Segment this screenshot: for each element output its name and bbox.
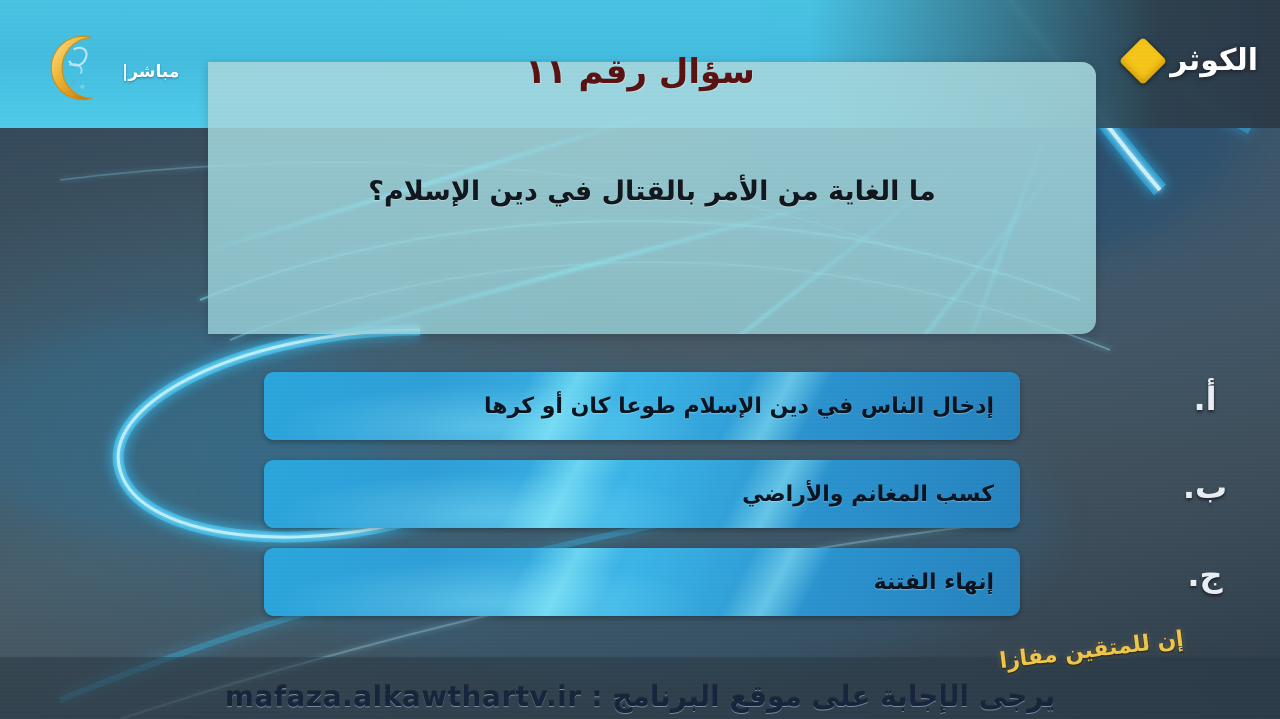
answer-row[interactable]: إنهاء الفتنة ج.	[0, 548, 1280, 636]
answer-option-b[interactable]: كسب المغانم والأراضي	[264, 460, 1020, 528]
answer-letter-a: أ.	[1170, 380, 1240, 418]
broadcast-stage: مباشر| الكوثر سؤال رقم ١١ ما الغاية من ا…	[0, 0, 1280, 719]
answer-row[interactable]: إدخال الناس في دين الإسلام طوعا كان أو ك…	[0, 372, 1280, 460]
answer-text: إدخال الناس في دين الإسلام طوعا كان أو ك…	[484, 394, 994, 419]
answer-text: كسب المغانم والأراضي	[742, 482, 994, 507]
answer-letter-b: ب.	[1170, 468, 1240, 506]
question-header: سؤال رقم ١١	[0, 52, 1280, 92]
answer-option-c[interactable]: إنهاء الفتنة	[264, 548, 1020, 616]
footer-url: mafaza.alkawthartv.ir	[225, 680, 582, 713]
answer-letter-c: ج.	[1170, 556, 1240, 594]
footer-prompt: يرجى الإجابة على موقع البرنامج : mafaza.…	[0, 680, 1280, 713]
question-text: ما الغاية من الأمر بالقتال في دين الإسلا…	[208, 176, 1096, 207]
answer-text: إنهاء الفتنة	[874, 570, 994, 595]
answers-list: إدخال الناس في دين الإسلام طوعا كان أو ك…	[0, 372, 1280, 636]
footer-prompt-text: يرجى الإجابة على موقع البرنامج :	[591, 680, 1055, 713]
answer-option-a[interactable]: إدخال الناس في دين الإسلام طوعا كان أو ك…	[264, 372, 1020, 440]
answer-row[interactable]: كسب المغانم والأراضي ب.	[0, 460, 1280, 548]
